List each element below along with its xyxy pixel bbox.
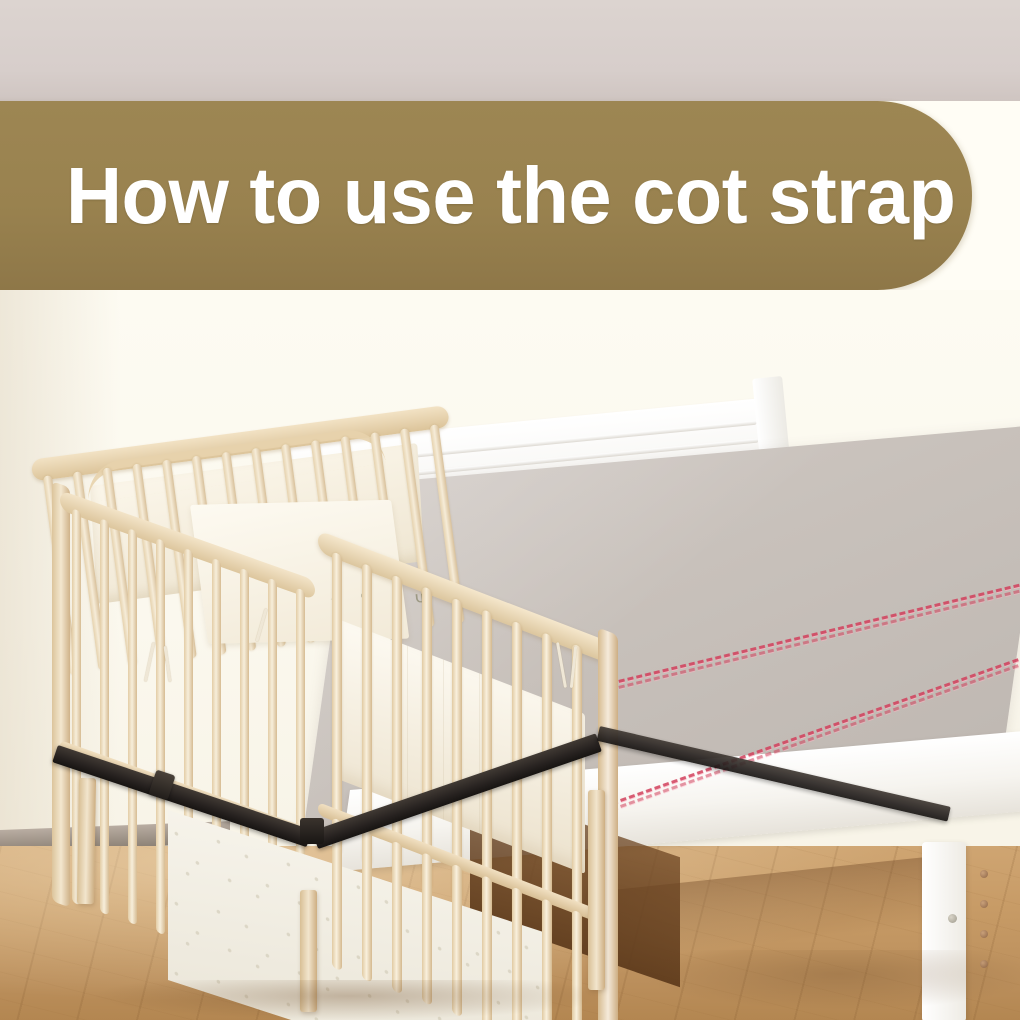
screw-icon	[980, 900, 988, 908]
cot-slat	[392, 840, 402, 994]
cot-slat	[128, 772, 137, 925]
screw-icon	[980, 930, 988, 938]
cot-floor-shadow	[90, 980, 610, 1020]
bed-floor-shadow	[640, 950, 1020, 1010]
instruction-image: How to use the cot strap	[0, 0, 1020, 1020]
cot-front-panel	[318, 530, 608, 1011]
cot-slat	[156, 782, 165, 935]
screw-icon	[948, 914, 957, 923]
cot-leg	[77, 778, 96, 904]
top-color-band	[0, 0, 1020, 101]
banner-title-text: How to use the cot strap	[66, 101, 939, 290]
cot-slat	[362, 829, 372, 983]
scene-photo: ✦ ○ Ψ	[0, 290, 1020, 1020]
cot-slat	[100, 762, 109, 915]
cot-strap-corner	[300, 818, 324, 844]
screw-icon	[980, 870, 988, 878]
baby-cot: ✦ ○ Ψ	[0, 290, 640, 1020]
cot-leg	[588, 790, 605, 990]
